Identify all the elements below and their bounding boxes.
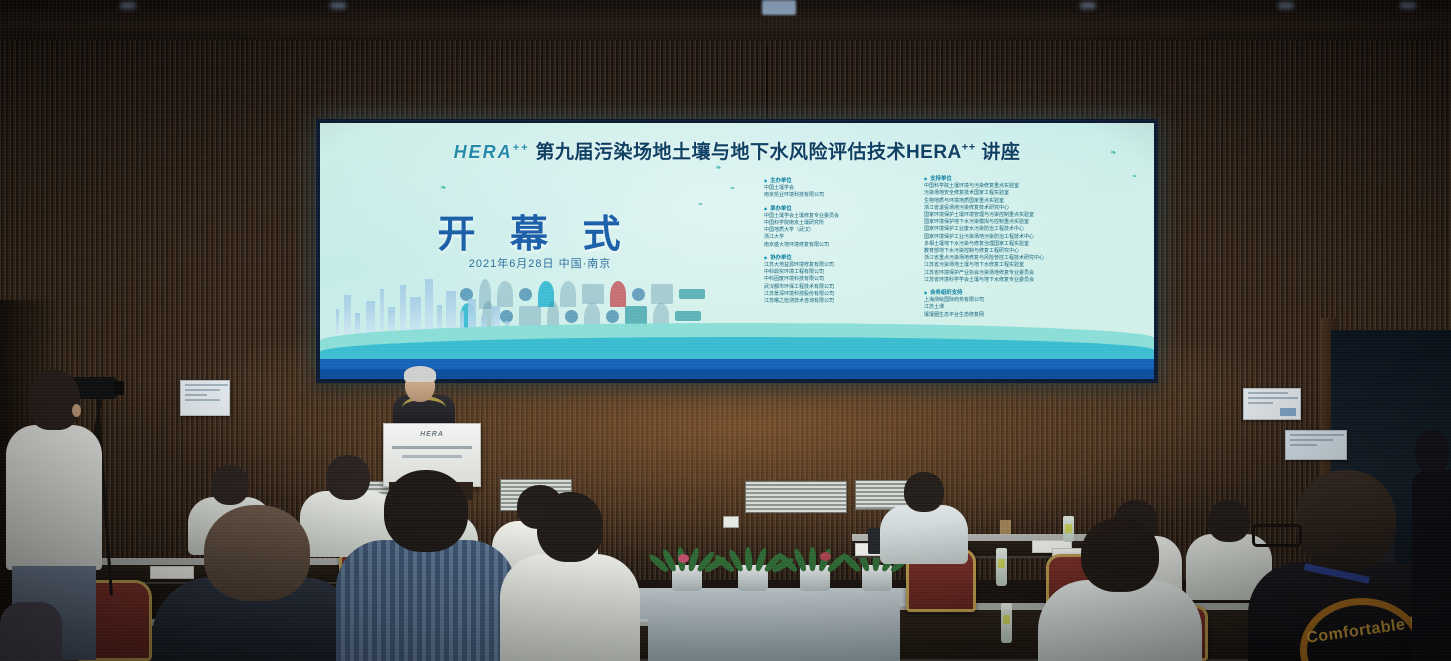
potted-plant [738, 565, 768, 591]
organizers-column-left: 主办单位 中国土壤学会 南京凯业环境科技有限公司 承办单位 中国土壤学会土壤修复… [764, 177, 839, 305]
attendee-head [904, 472, 944, 512]
conference-room-photo: ❧ ❧ ❧ ❧ ❧ ❧ ❧ HERA++第九届污染场地土壤与地下水风险评估技术H… [0, 0, 1451, 661]
plant-leaves [662, 537, 712, 571]
attendee-foreground-mid [500, 492, 640, 661]
operator-torso [6, 425, 102, 570]
bird-glyph-icon: ❧ [440, 183, 447, 192]
attendee-foreground-right-mid [1038, 518, 1202, 661]
podium-banner-line-2 [402, 455, 462, 458]
attendee-foreground-left [152, 505, 362, 661]
attendee-torso [880, 505, 968, 564]
operator-ear [72, 404, 81, 417]
org-item: 南京盛大地环境修复有限公司 [764, 242, 839, 249]
org-heading: 支持单位 [924, 175, 1044, 183]
organizers-column-right: 支持单位 中国科学院土壤环境与污染修复重点实验室 污染场地安全修复技术国家工程实… [924, 175, 1044, 319]
sponsor-logo-icon [675, 311, 701, 321]
slide-header-title: HERA++第九届污染场地土壤与地下水风险评估技术HERA++ 讲座 [320, 137, 1154, 164]
org-item: 壤壤圈生态平台生态修复网 [924, 312, 1044, 319]
ceiling-light [762, 0, 796, 15]
attendee-torso [0, 602, 62, 661]
attendee [880, 472, 968, 564]
podium-banner-line-1 [392, 446, 472, 449]
slide-title-tail: 讲座 [981, 142, 1020, 163]
attendee-bottom-left [0, 596, 62, 661]
org-item: 浙江大学 [764, 234, 839, 241]
wall-outlet [723, 516, 739, 528]
bird-glyph-icon: ❧ [1132, 173, 1137, 180]
org-item: 南京凯业环境科技有限公司 [764, 192, 839, 199]
org-item: 中国土壤学会土壤修复专业委员会 [764, 213, 839, 220]
attendee-head [1296, 470, 1396, 570]
org-item: 生物地质与环境地质国家重点实验室 [924, 198, 1044, 205]
org-item: 江苏省污染场地土壤与地下水修复工程实验室 [924, 262, 1044, 269]
attendee-head [537, 492, 603, 562]
org-item: 武汉都市环保工程技术有限公司 [764, 284, 839, 291]
org-heading: 承办单位 [764, 205, 839, 213]
potted-plant [672, 565, 702, 591]
org-item: 江苏省环境保护产业协会污染场地修复专业委员会 [924, 270, 1044, 277]
attendee-head [384, 470, 468, 552]
attendee-torso [500, 554, 640, 661]
wall-sign-right-display [1285, 430, 1347, 460]
projection-screen: ❧ ❧ ❧ ❧ ❧ ❧ ❧ HERA++第九届污染场地土壤与地下水风险评估技术H… [316, 119, 1158, 383]
sponsor-logo-icon [651, 284, 673, 304]
org-heading: 主办单位 [764, 177, 839, 185]
org-item: 江苏景深环境科技股份有限公司 [764, 291, 839, 298]
attendee-foreground-center [336, 470, 516, 661]
speaker-hair [404, 366, 436, 382]
bird-glyph-icon: ❧ [698, 201, 703, 208]
attendee-head [1415, 430, 1449, 474]
bird-glyph-icon: ❧ [715, 163, 722, 172]
org-item: 江苏土课 [924, 304, 1044, 311]
ceiling-light [120, 2, 136, 9]
attendee-far-right [1412, 430, 1451, 661]
bird-glyph-icon: ❧ [730, 185, 735, 192]
attendee-torso [336, 540, 516, 661]
org-heading: 协办单位 [764, 254, 839, 262]
plant-leaves [728, 537, 778, 571]
org-item: 中科固废环境科技有限公司 [764, 276, 839, 283]
potted-plant [862, 565, 892, 591]
org-item: 国家环境保护工业污染场地污染防治工程技术中心 [924, 234, 1044, 241]
operator-head [28, 370, 80, 430]
slide-title-text: 第九届污染场地土壤与地下水风险评估技术HERA [535, 142, 961, 163]
slide-title-sup: ++ [962, 142, 976, 154]
org-item: 浙江省退役场地污染修复技术研究中心 [924, 205, 1044, 212]
water-bottle [996, 548, 1007, 586]
event-date-location: 2021年6月28日 中国·南京 [420, 255, 660, 271]
attendee-head [1208, 500, 1250, 542]
attendee-torso [1412, 470, 1451, 661]
org-item: 江苏省环境科学学会土壤与地下水修复专业委员会 [924, 277, 1044, 284]
sponsor-logo-icon [679, 289, 705, 299]
wall-sign-left [180, 380, 230, 416]
ceiling-light [330, 2, 346, 9]
org-item: 江苏曙之检测技术咨询有限公司 [764, 298, 839, 305]
eyeglasses-icon [1252, 524, 1302, 547]
attendee-head [204, 505, 310, 601]
potted-plant [800, 565, 830, 591]
water-bottle [1001, 603, 1012, 643]
org-item: 污染场地安全修复技术国家工程实验室 [924, 190, 1044, 197]
hera-logo-icon: HERA++ [454, 142, 530, 162]
plant-leaves [790, 537, 840, 571]
wall-outlet [1000, 520, 1011, 534]
ceiling-light [1080, 2, 1096, 9]
ceiling-light [1278, 2, 1294, 9]
podium-hera-logo-icon: HERA [384, 431, 480, 438]
wall-vent [745, 481, 847, 513]
plant-flower [678, 554, 689, 563]
attendee-head [211, 465, 249, 505]
wave-layer-deep [320, 369, 1154, 379]
org-item: 多相土壤地下水污染与修复治理国家工程实验室 [924, 241, 1044, 248]
wall-sign-right-upper [1243, 388, 1301, 420]
attendee-head [1081, 518, 1159, 592]
slide-content: ❧ ❧ ❧ ❧ ❧ ❧ ❧ HERA++第九届污染场地土壤与地下水风险评估技术H… [320, 123, 1154, 379]
ceiling-light [1400, 2, 1416, 9]
org-item: 国家环境保护工业废水污染防治工程技术中心 [924, 226, 1044, 233]
plant-flower [820, 552, 831, 561]
opening-ceremony-title: 开 幕 式 [420, 203, 650, 258]
sponsor-logo-icon [632, 288, 645, 301]
attendee-torso [1038, 580, 1202, 661]
